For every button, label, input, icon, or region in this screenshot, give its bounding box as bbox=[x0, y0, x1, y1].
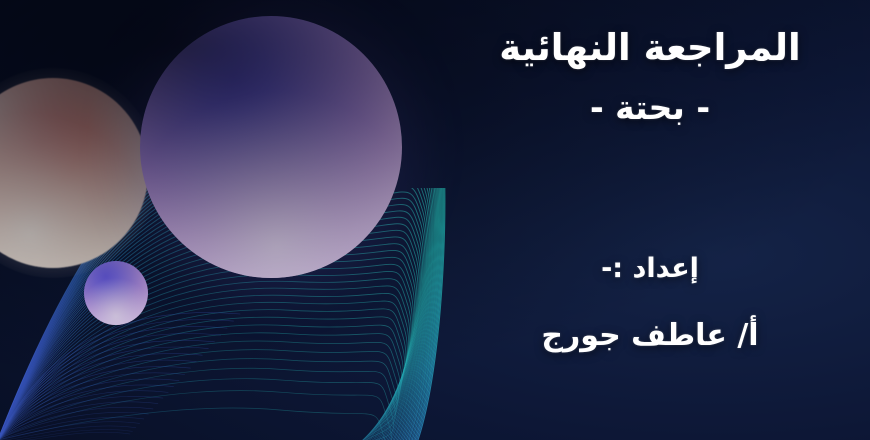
byline-label: إعداد :- bbox=[430, 252, 870, 287]
byline-group: إعداد :- أ/ عاطف جورج bbox=[430, 252, 870, 355]
decorative-sphere-peach bbox=[0, 78, 148, 268]
page-title: المراجعة النهائية bbox=[430, 24, 870, 71]
decorative-sphere-violet-large bbox=[140, 16, 402, 278]
byline-author-name: أ/ عاطف جورج bbox=[430, 317, 870, 355]
wave-line bbox=[0, 368, 395, 440]
text-content: المراجعة النهائية - بحتة - إعداد :- أ/ ع… bbox=[430, 0, 870, 440]
title-slide: المراجعة النهائية - بحتة - إعداد :- أ/ ع… bbox=[0, 0, 870, 440]
wave-line-inner bbox=[0, 412, 148, 440]
page-subtitle: - بحتة - bbox=[430, 87, 870, 129]
title-group: المراجعة النهائية - بحتة - bbox=[430, 24, 870, 130]
wave-line bbox=[0, 333, 402, 440]
wave-line bbox=[0, 408, 388, 440]
decorative-sphere-violet-small bbox=[84, 261, 148, 325]
wave-line bbox=[0, 391, 392, 440]
